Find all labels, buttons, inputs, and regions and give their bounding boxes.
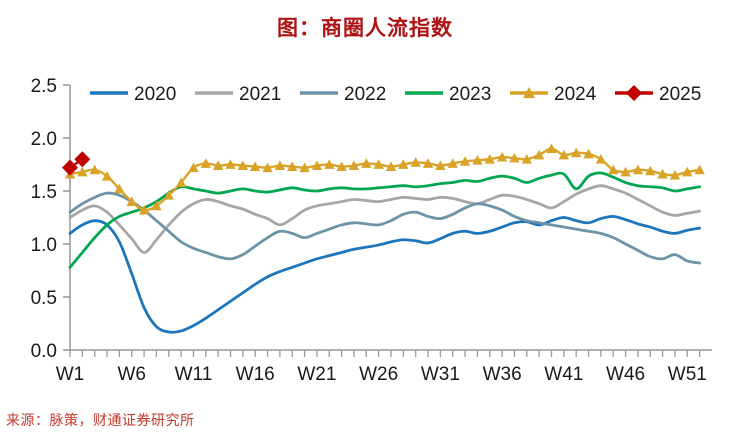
legend-item-2020[interactable]: 2020	[90, 84, 176, 105]
legend-label-2020: 2020	[134, 84, 176, 105]
line-chart-plot: 0.00.51.01.52.02.5 W1W6W11W16W21W26W31W3…	[0, 0, 730, 400]
series-2024	[65, 143, 705, 214]
legend-label-2021: 2021	[239, 84, 281, 105]
legend-item-2023[interactable]: 2023	[405, 84, 491, 105]
x-tick-label: W46	[606, 364, 645, 385]
legend-label-2025: 2025	[659, 84, 701, 105]
x-axis-ticks	[70, 350, 700, 357]
x-tick-label: W26	[359, 364, 398, 385]
y-tick-label: 1.5	[31, 182, 57, 203]
y-tick-label: 0.0	[31, 341, 57, 362]
legend-item-2022[interactable]: 2022	[300, 84, 386, 105]
x-tick-label: W31	[421, 364, 460, 385]
marker-triangle	[596, 154, 606, 164]
legend-marker-diamond	[626, 85, 642, 101]
chart-container: 图：商圈人流指数 0.00.51.01.52.02.5 W1W6W11W16W2…	[0, 0, 730, 446]
x-tick-label: W21	[297, 364, 336, 385]
series-2022	[70, 193, 700, 263]
y-tick-label: 0.5	[31, 288, 57, 309]
x-tick-label: W11	[175, 364, 213, 385]
legend-label-2023: 2023	[449, 84, 491, 105]
marker-triangle	[188, 162, 198, 172]
y-tick-label: 2.0	[31, 129, 57, 150]
x-tick-label: W16	[236, 364, 275, 385]
x-axis-labels: W1W6W11W16W21W26W31W36W41W46W51	[56, 364, 707, 385]
marker-diamond	[74, 151, 90, 167]
series-line-2022	[70, 193, 700, 263]
x-tick-label: W1	[56, 364, 85, 385]
legend-item-2025[interactable]: 2025	[615, 84, 701, 105]
data-series-group	[62, 143, 705, 332]
chart-legend: 202020212022202320242025	[90, 84, 701, 105]
legend-label-2024: 2024	[554, 84, 597, 105]
x-tick-label: W36	[483, 364, 522, 385]
legend-label-2022: 2022	[344, 84, 386, 105]
x-tick-label: W51	[668, 364, 707, 385]
x-tick-label: W6	[117, 364, 146, 385]
y-axis-labels: 0.00.51.01.52.02.5	[31, 76, 57, 362]
source-note: 来源：脉策，财通证券研究所	[6, 410, 195, 430]
legend-item-2024[interactable]: 2024	[510, 84, 597, 105]
legend-item-2021[interactable]: 2021	[195, 84, 281, 105]
page-title: 图：商圈人流指数	[0, 12, 730, 42]
y-tick-label: 1.0	[31, 235, 57, 256]
x-tick-label: W41	[544, 364, 583, 385]
marker-triangle	[546, 143, 556, 153]
y-tick-label: 2.5	[31, 76, 57, 97]
marker-triangle	[534, 150, 544, 160]
